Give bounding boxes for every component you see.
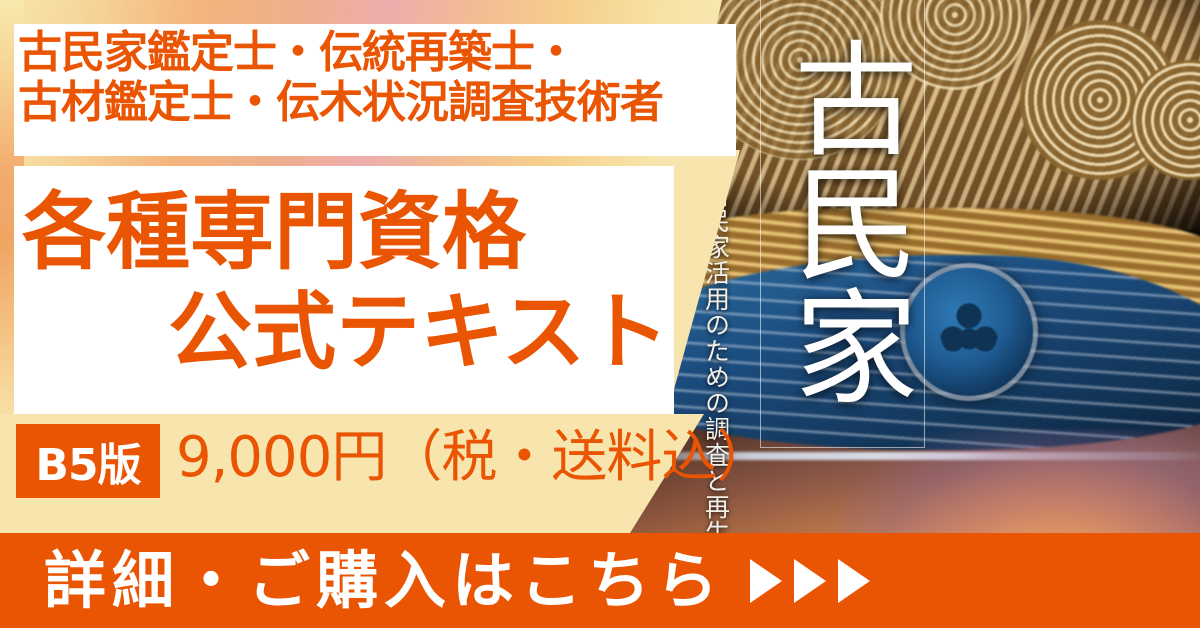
kicker-line-2: 古材鑑定士・伝木状況調査技術者: [18, 78, 724, 128]
kicker-line-1: 古民家鑑定士・伝統再築士・: [18, 28, 724, 78]
kicker-text: 古民家鑑定士・伝統再築士・ 古材鑑定士・伝木状況調査技術者: [18, 28, 724, 127]
cta-label: 詳細・ご購入はこちら: [44, 550, 724, 612]
headline-line-1: 各種専門資格: [22, 190, 526, 274]
triangle-right-icon: [794, 559, 826, 603]
cta-arrows: [750, 559, 870, 603]
triangle-right-icon: [750, 559, 782, 603]
price-text: 9,000円（税・送料込）: [176, 430, 771, 486]
promo-banner: 古民家 伝統構法、古民家活用のための調査と再生の 古民家鑑定士・伝統再築士・ 古…: [0, 0, 1200, 628]
cta-bar[interactable]: 詳細・ご購入はこちら: [0, 533, 1200, 628]
format-badge: B5版: [16, 424, 160, 498]
headline-line-2: 公式テキスト: [168, 290, 669, 374]
cover-title: 古民家: [768, 6, 916, 436]
triangle-right-icon: [838, 559, 870, 603]
